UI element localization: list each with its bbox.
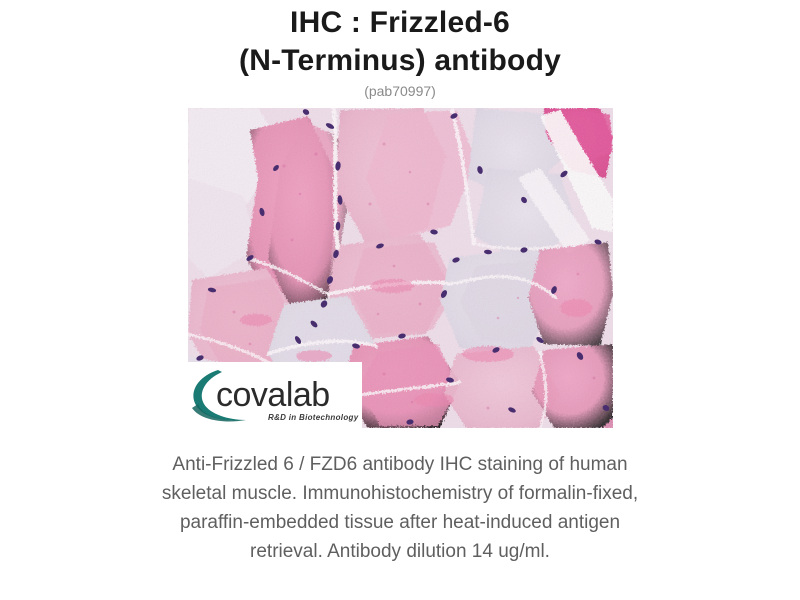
product-figure: IHC : Frizzled-6 (N-Terminus) antibody (… (0, 0, 800, 600)
figure-caption: Anti-Frizzled 6 / FZD6 antibody IHC stai… (100, 450, 700, 566)
caption-line: Anti-Frizzled 6 / FZD6 antibody IHC stai… (100, 450, 700, 479)
page-title-line-2: (N-Terminus) antibody (0, 42, 800, 80)
title-block: IHC : Frizzled-6 (N-Terminus) antibody (… (0, 0, 800, 101)
catalog-number: (pab70997) (0, 81, 800, 101)
logo-tagline: R&D in Biotechnology (268, 413, 359, 422)
logo-wordmark: covalab (216, 376, 330, 414)
page-title-line-1: IHC : Frizzled-6 (0, 4, 800, 42)
caption-line: skeletal muscle. Immunohistochemistry of… (100, 479, 700, 508)
caption-line: paraffin-embedded tissue after heat-indu… (100, 508, 700, 537)
micrograph-container: covalab R&D in Biotechnology (188, 108, 613, 428)
covalab-logo: covalab R&D in Biotechnology (188, 362, 362, 428)
caption-line: retrieval. Antibody dilution 14 ug/ml. (100, 537, 700, 566)
